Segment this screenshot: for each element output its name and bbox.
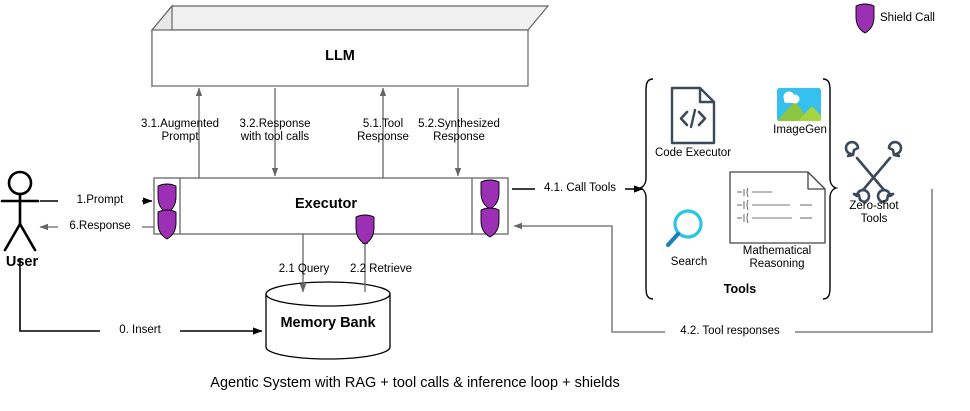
tool-label-code-executor: Code Executor	[645, 147, 741, 160]
edge-label-synthesized-response-line2: Response	[409, 131, 509, 144]
edge-label-insert: 0. Insert	[100, 324, 180, 337]
edge-label-prompt: 1.Prompt	[58, 194, 142, 207]
llm-label: LLM	[152, 50, 528, 63]
tools-group-label: Tools	[700, 283, 780, 296]
shield-icon	[356, 215, 374, 244]
crossed-wrenches-icon	[846, 142, 901, 202]
legend-label: Shield Call	[880, 12, 970, 25]
edge-label-call-tools: 4.1. Call Tools	[535, 182, 625, 195]
edge-label-augmented-prompt-line2: Prompt	[135, 131, 225, 144]
tool-label-search: Search	[660, 256, 718, 269]
shield-icon	[158, 210, 176, 239]
edge-label-augmented-prompt-line1: 3.1.Augmented	[135, 118, 225, 131]
edge-label-response-tool-calls-line2: with tool calls	[227, 131, 323, 144]
shield-icon	[158, 184, 176, 213]
code-document-icon	[672, 88, 714, 143]
math-document-icon	[730, 172, 825, 243]
legend-shield-icon	[856, 4, 874, 33]
user-label: User	[0, 256, 44, 269]
tool-label-math-line1: Mathematical	[723, 245, 831, 258]
user-figure	[2, 172, 38, 250]
tool-label-imagegen: ImageGen	[762, 124, 838, 137]
image-picture-icon	[777, 88, 826, 121]
tool-label-zero-shot-tools-line1: Zero-shot	[838, 200, 910, 213]
edge-label-tool-responses: 4.2. Tool responses	[665, 325, 795, 338]
magnifier-icon	[668, 211, 701, 245]
memory-bank-label: Memory Bank	[266, 317, 390, 330]
tool-label-zero-shot-tools-line2: Tools	[838, 213, 910, 226]
tool-label-math-line2: Reasoning	[723, 258, 831, 271]
executor-label: Executor	[180, 198, 472, 211]
shield-icon	[481, 208, 499, 237]
edge-label-query: 2.1 Query	[268, 263, 340, 276]
edge-label-synthesized-response-line1: 5.2.Synthesized	[409, 118, 509, 131]
llm-node	[152, 6, 548, 86]
edge-insert	[20, 258, 262, 331]
edge-label-response: 6.Response	[58, 220, 142, 233]
diagram-caption: Agentic System with RAG + tool calls & i…	[0, 377, 830, 390]
edge-label-response-tool-calls-line1: 3.2.Response	[227, 118, 323, 131]
tools-left-brace	[640, 79, 653, 299]
edge-label-retrieve: 2.2 Retrieve	[340, 263, 422, 276]
shield-icon	[481, 180, 499, 209]
